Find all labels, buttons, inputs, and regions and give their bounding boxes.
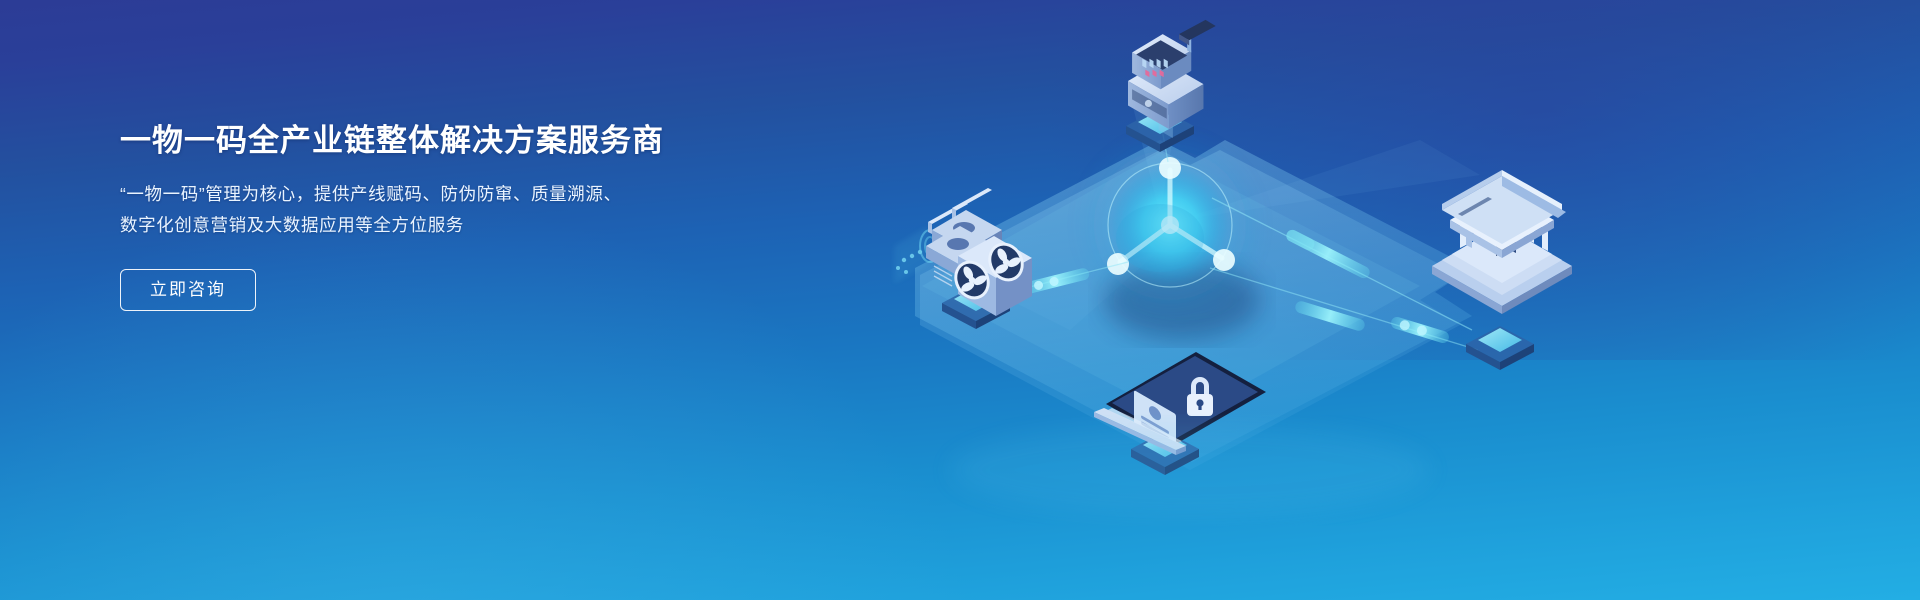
platform-glow: [950, 424, 1430, 516]
hero-illustration: [860, 0, 1920, 600]
page-title: 一物一码全产业链整体解决方案服务商: [120, 122, 820, 161]
bank-building-icon: [1432, 170, 1572, 314]
server-fans-icon: [894, 188, 1032, 316]
hero-banner: 一物一码全产业链整体解决方案服务商 “一物一码”管理为核心，提供产线赋码、防伪防…: [0, 0, 1920, 600]
hero-subtitle: “一物一码”管理为核心，提供产线赋码、防伪防窜、质量溯源、 数字化创意营销及大数…: [120, 179, 820, 241]
glowing-network-sphere: [1072, 127, 1268, 323]
hero-copy: 一物一码全产业链整体解决方案服务商 “一物一码”管理为核心，提供产线赋码、防伪防…: [120, 122, 820, 311]
consult-now-button[interactable]: 立即咨询: [120, 269, 256, 311]
subtitle-line-1: “一物一码”管理为核心，提供产线赋码、防伪防窜、质量溯源、: [120, 179, 820, 210]
subtitle-line-2: 数字化创意营销及大数据应用等全方位服务: [120, 210, 820, 241]
